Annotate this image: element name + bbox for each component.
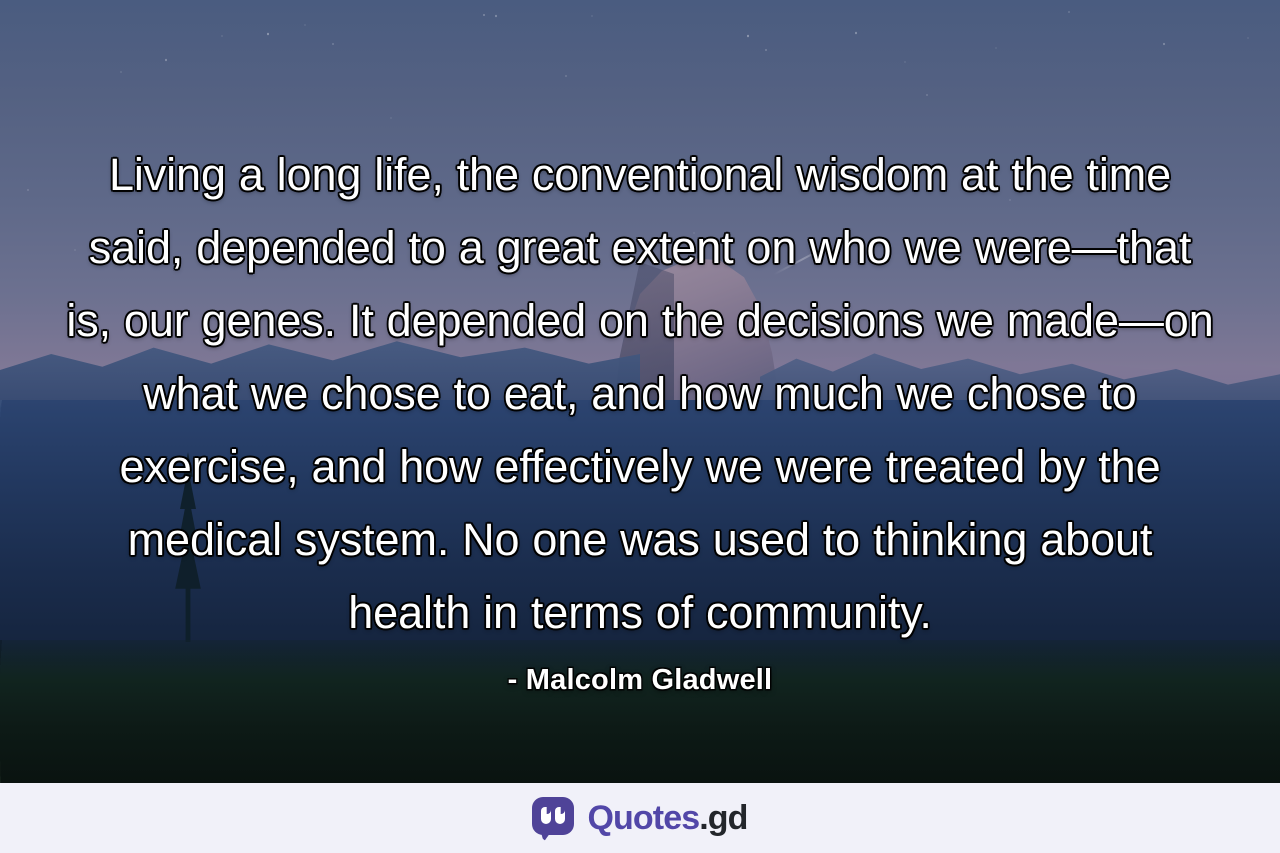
brand-link[interactable]: Quotes.gd [532,797,747,839]
footer-bar: Quotes.gd [0,783,1280,853]
brand-name-tld: .gd [699,799,747,837]
quote-bubble-icon [532,797,574,839]
foreground-texture [0,640,1280,783]
quote-glyph-left [541,807,551,824]
quote-text: Living a long life, the conventional wis… [64,138,1216,649]
brand-name: Quotes.gd [587,801,747,835]
quote-card: Living a long life, the conventional wis… [0,0,1280,853]
quote-author: - Malcolm Gladwell [64,664,1216,697]
quote-glyph-right [555,807,565,824]
quote-text-block: Living a long life, the conventional wis… [64,138,1216,649]
brand-name-main: Quotes [587,799,699,837]
quote-bubble-body [532,797,574,835]
